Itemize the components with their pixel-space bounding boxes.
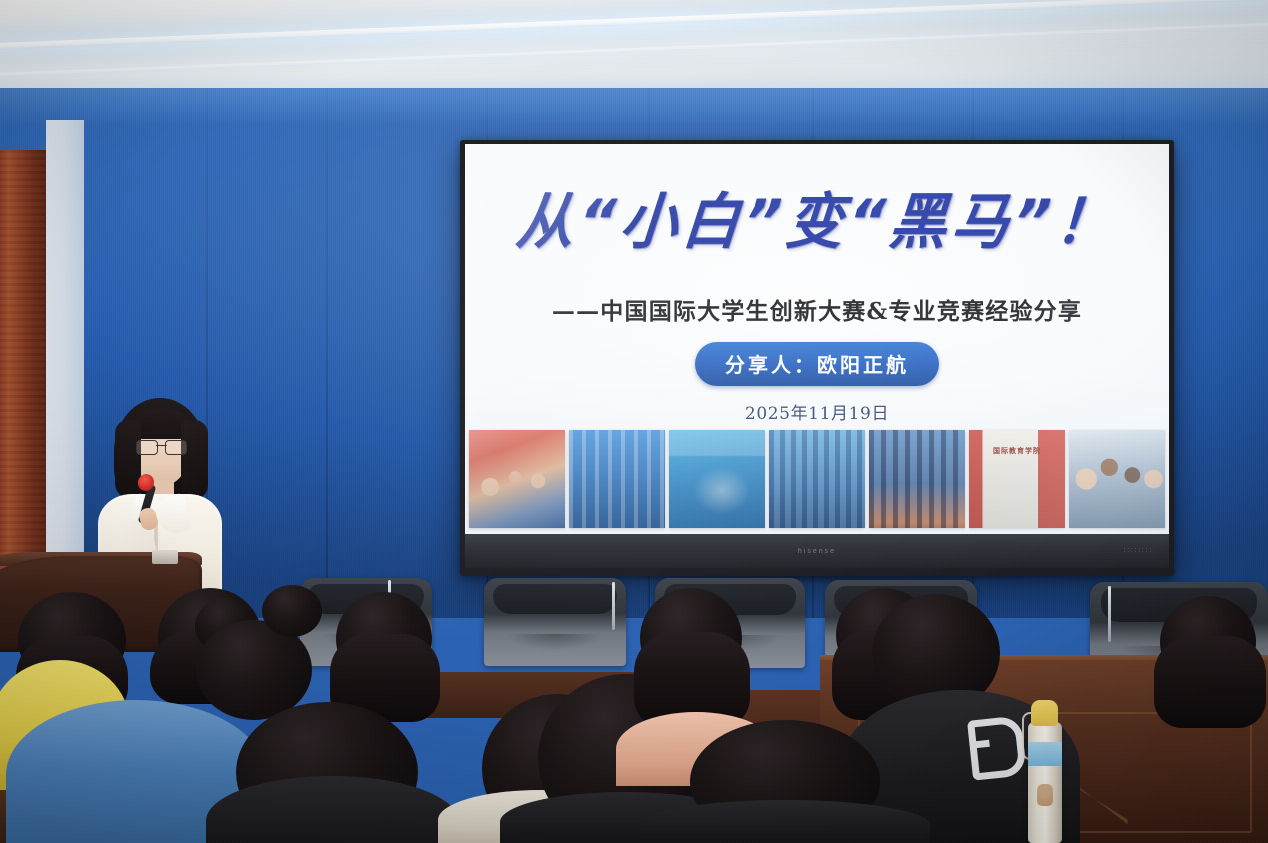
slide-photo-selfie-group [469, 430, 565, 528]
podium-document [152, 550, 178, 564]
thermos-cap [1031, 700, 1058, 726]
conference-chair [484, 578, 626, 666]
jacket-d-logo-icon [967, 715, 1027, 780]
wall-left-light-strip [46, 120, 84, 620]
soundbar-indicator: :::::::: [1124, 548, 1153, 554]
thermos-band [1028, 742, 1062, 766]
audience-hair [1154, 636, 1266, 728]
presenter-hair-right [181, 420, 208, 500]
slide-photo-team-group [769, 430, 865, 528]
thermos-bottle [1028, 722, 1062, 843]
wood-wall-column [0, 150, 46, 620]
presentation-slide: 从“小白”变“黑马”！ ——中国国际大学生创新大赛&专业竞赛经验分享 分享人：欧… [465, 144, 1169, 534]
desk-microphone-stand [612, 582, 615, 630]
desk-microphone-stand [1108, 586, 1111, 642]
glasses-lens-right [165, 440, 187, 455]
audience-head [262, 585, 322, 637]
audience-black-jacket [640, 800, 930, 843]
display-screen[interactable]: 从“小白”变“黑马”！ ——中国国际大学生创新大赛&专业竞赛经验分享 分享人：欧… [465, 144, 1169, 534]
slide-subtitle: ——中国国际大学生创新大赛&专业竞赛经验分享 [552, 292, 1082, 326]
speaker-badge: 分享人：欧阳正航 [695, 342, 939, 386]
slide-title: 从“小白”变“黑马”！ [513, 174, 1121, 261]
lecture-hall-photo: 从“小白”变“黑马”！ ——中国国际大学生创新大赛&专业竞赛经验分享 分享人：欧… [0, 0, 1268, 843]
slide-photo-strip: 国际教育学院 [465, 422, 1169, 534]
slide-photo-team-lineup [869, 430, 965, 528]
slide-photo-stage-award [569, 430, 665, 528]
soundbar-brand-logo: hisense [798, 548, 836, 555]
ceiling-bevel [0, 0, 1268, 50]
slide-date: 2025年11月19日 [745, 399, 889, 424]
glasses-lens-left [136, 440, 158, 455]
slide-photo-award-ceremony [669, 430, 765, 528]
presentation-display[interactable]: 从“小白”变“黑马”！ ——中国国际大学生创新大赛&专业竞赛经验分享 分享人：欧… [460, 140, 1174, 576]
slide-photo-banner: 国际教育学院 [969, 430, 1065, 528]
thermos-character-motif [1037, 784, 1053, 806]
slide-photo-students-outdoor [1069, 430, 1165, 528]
display-soundbar: hisense :::::::: [465, 534, 1169, 568]
slide-photo-banner-caption: 国际教育学院 [993, 446, 1041, 456]
presenter-hair-left [115, 420, 141, 498]
presenter-glasses [136, 440, 187, 453]
